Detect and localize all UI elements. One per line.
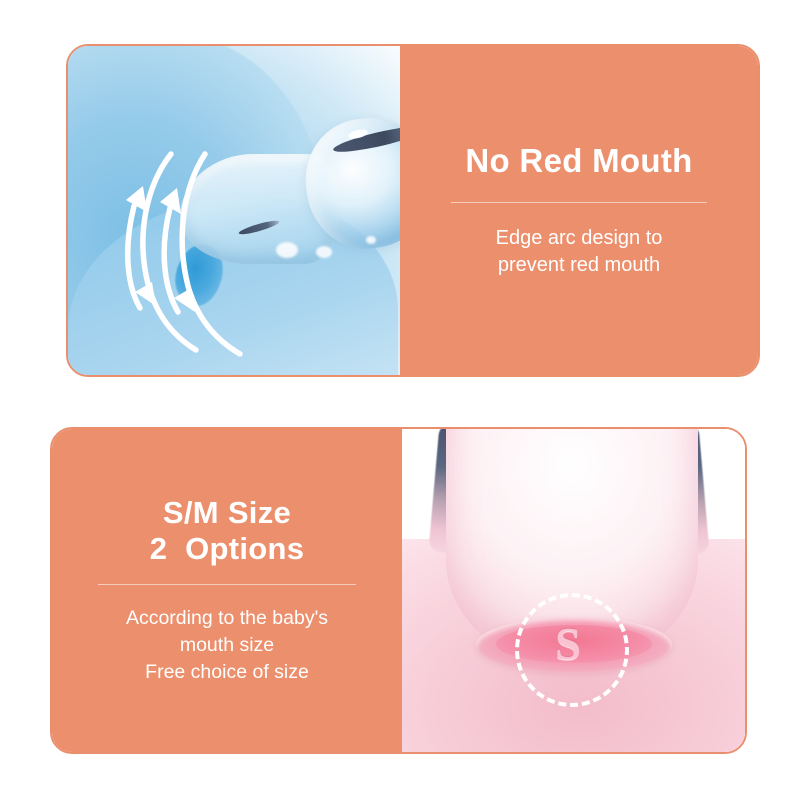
panel-subtitle: Edge arc design to prevent red mouth bbox=[496, 225, 663, 279]
panel-subtitle: According to the baby's mouth size Free … bbox=[126, 605, 328, 686]
panel-title: S/M Size 2 Options bbox=[150, 495, 305, 567]
panel-title: No Red Mouth bbox=[465, 142, 692, 180]
sm-size-text-block: S/M Size 2 Options According to the baby… bbox=[52, 429, 402, 752]
feature-card-no-red-mouth: No Red Mouth Edge arc design to prevent … bbox=[66, 44, 760, 377]
title-divider bbox=[98, 584, 356, 585]
title-divider bbox=[451, 202, 707, 203]
dashed-highlight-circle bbox=[515, 593, 629, 707]
pink-photo-backdrop: S bbox=[402, 429, 745, 752]
blue-photo-backdrop bbox=[68, 46, 400, 375]
no-red-mouth-text-block: No Red Mouth Edge arc design to prevent … bbox=[400, 46, 758, 375]
pink-silicone-teat-photo: S bbox=[402, 429, 745, 752]
blue-silicone-teat-photo bbox=[68, 46, 400, 375]
feature-card-sm-size: S/M Size 2 Options According to the baby… bbox=[50, 427, 747, 754]
flow-arrows-icon bbox=[68, 46, 400, 375]
product-infographic: No Red Mouth Edge arc design to prevent … bbox=[0, 0, 800, 800]
